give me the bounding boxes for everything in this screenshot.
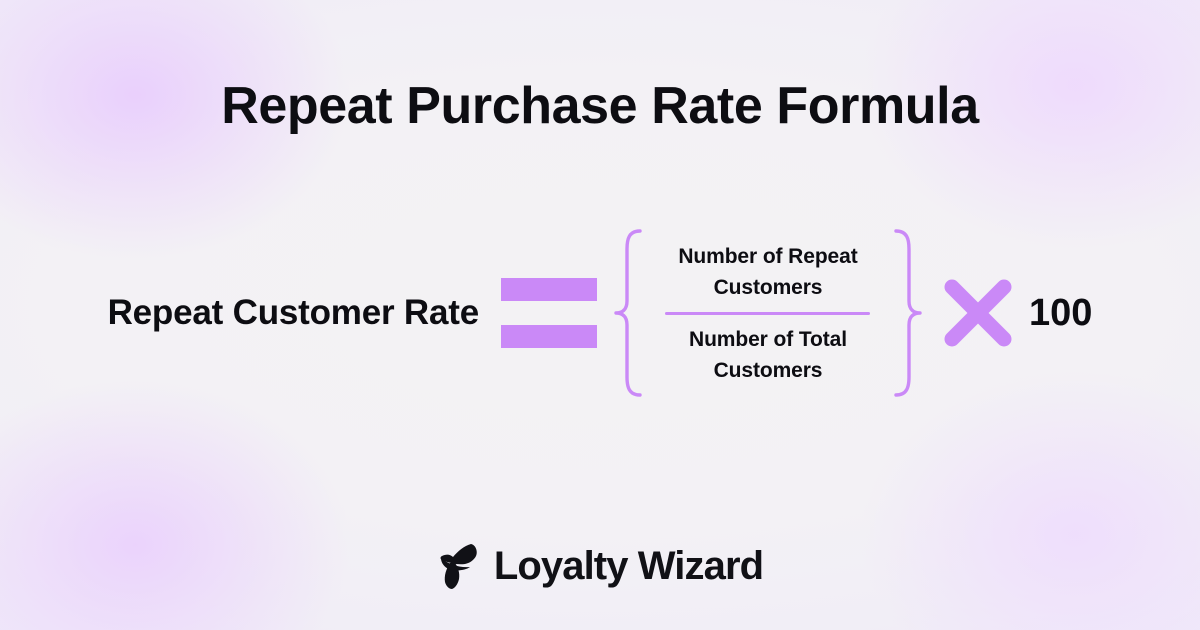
formula-multiplier-value: 100 xyxy=(1029,292,1092,335)
formula-left-hand-side-label: Repeat Customer Rate xyxy=(108,293,479,333)
fraction-bar xyxy=(665,312,870,315)
infographic-canvas: Repeat Purchase Rate Formula Repeat Cust… xyxy=(0,0,1200,630)
equals-bar-top xyxy=(501,278,597,301)
wizard-icon xyxy=(437,542,481,590)
fraction-denominator: Number of Total Customers xyxy=(649,324,887,386)
formula-expression: Repeat Customer Rate Number of Repeat Cu… xyxy=(0,218,1200,408)
background-wash-bottom-right xyxy=(860,370,1200,630)
fraction-group: Number of Repeat Customers Number of Tot… xyxy=(613,227,923,399)
equals-sign-icon xyxy=(501,278,597,348)
fraction-numerator: Number of Repeat Customers xyxy=(649,241,887,303)
brand-lockup: Loyalty Wizard xyxy=(0,542,1200,590)
curly-brace-open-icon xyxy=(613,227,643,399)
equals-bar-bottom xyxy=(501,325,597,348)
page-title: Repeat Purchase Rate Formula xyxy=(0,74,1200,138)
background-wash-bottom-left xyxy=(0,380,350,630)
multiply-x-icon xyxy=(941,276,1015,350)
fraction: Number of Repeat Customers Number of Tot… xyxy=(643,241,893,386)
curly-brace-close-icon xyxy=(893,227,923,399)
brand-name: Loyalty Wizard xyxy=(494,544,763,589)
